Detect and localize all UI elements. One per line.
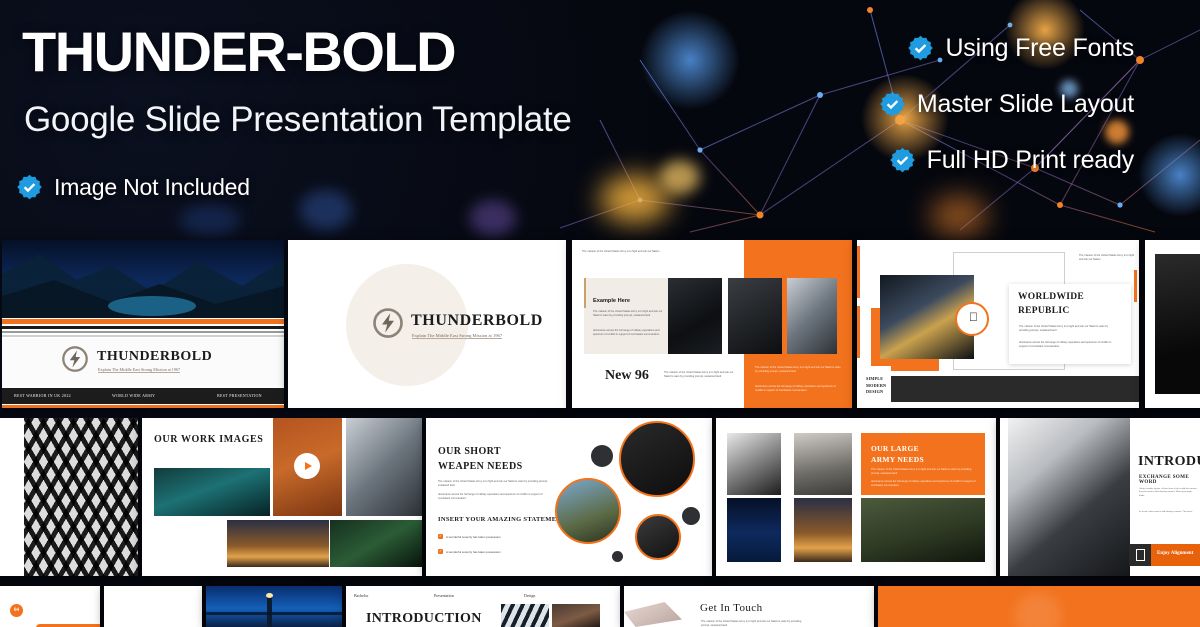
check-badge-icon bbox=[889, 147, 916, 174]
worldwide-left-accent-2 bbox=[857, 306, 860, 358]
worldwide-body-2: dominance across the full range of milit… bbox=[1019, 341, 1119, 349]
example-orange-note-1: The mission of the United States Army is… bbox=[755, 366, 843, 374]
slide-thumbnail-numbered[interactable]: 04 bbox=[0, 586, 100, 627]
lighthouse-photo bbox=[206, 586, 342, 627]
check-badge-icon bbox=[879, 91, 906, 118]
slide-thumbnail-lighthouse[interactable] bbox=[206, 586, 342, 627]
example-body-2: dominance across the full range of milit… bbox=[593, 329, 665, 337]
worldwide-dark-bar bbox=[891, 376, 1139, 402]
worldwide-side-label: SIMPLE MODERN DESIGN bbox=[866, 376, 890, 396]
intro-wide-heading: INTRODUCTION bbox=[366, 611, 482, 627]
page-subtitle: Google Slide Presentation Template bbox=[24, 100, 572, 140]
worldwide-heading-line2: REPUBLIC bbox=[1018, 306, 1070, 316]
play-button[interactable] bbox=[294, 453, 320, 479]
feature-label: Full HD Print ready bbox=[927, 146, 1134, 175]
cover-footer-item: BEST WARRIOR IN UK 2022 bbox=[14, 393, 71, 398]
work-photo-3 bbox=[346, 418, 422, 516]
work-photo-4 bbox=[227, 520, 329, 567]
cover-footer-item: WORLD WIDE ARMY bbox=[112, 393, 155, 398]
army-heading-line1: OUR LARGE bbox=[871, 444, 919, 453]
document-icon bbox=[1136, 549, 1145, 561]
intro-nav-item[interactable]: Design bbox=[524, 593, 535, 598]
slide-thumbnail-introduction[interactable]: INTRODUCTION EXCHANGE SOME WORD Using a … bbox=[1000, 418, 1200, 576]
weapon-body-2: dominance across the full range of milit… bbox=[438, 493, 548, 501]
weapon-bullet-1: ✓ A wonderful serenity has taken possess… bbox=[438, 549, 501, 554]
preview-stage: THUNDER-BOLD Google Slide Presentation T… bbox=[0, 0, 1200, 627]
example-big-number: New 96 bbox=[605, 368, 649, 384]
portrait-photo bbox=[1155, 254, 1200, 394]
army-photo-3 bbox=[727, 498, 781, 562]
worldwide-left-accent-1 bbox=[857, 246, 860, 298]
example-photo-1 bbox=[668, 278, 722, 354]
feature-item-2: Full HD Print ready bbox=[889, 146, 1134, 175]
army-photo-5 bbox=[861, 498, 985, 562]
army-photo-2 bbox=[794, 433, 852, 495]
introduction-cta-label: Enjoy Alignment bbox=[1157, 551, 1193, 556]
weapon-photo-circle-2 bbox=[555, 478, 621, 544]
work-photo-5 bbox=[330, 520, 422, 567]
slide-thumbnail-orange[interactable] bbox=[878, 586, 1200, 627]
weapon-dot-3 bbox=[612, 551, 623, 562]
worldwide-top-note: The mission of the United States Army is… bbox=[1079, 254, 1137, 262]
thunderbolt-logo-icon bbox=[62, 346, 88, 372]
logo-brand-name: THUNDERBOLD bbox=[411, 312, 543, 330]
worldwide-orange-block-bottom bbox=[891, 358, 939, 371]
hero-section: THUNDER-BOLD Google Slide Presentation T… bbox=[0, 0, 1200, 236]
intro-nav-item[interactable]: Presentation bbox=[434, 593, 454, 598]
introduction-heading: INTRODUCTION bbox=[1138, 454, 1200, 470]
worldwide-right-accent bbox=[1134, 270, 1137, 302]
check-badge-icon bbox=[16, 174, 43, 201]
slide-thumbnail-example[interactable]: The mission of the United States Army is… bbox=[572, 240, 852, 408]
get-in-touch-body: The mission of the United States Army is… bbox=[701, 620, 805, 627]
image-not-included-label: Image Not Included bbox=[54, 174, 250, 201]
work-images-heading: OUR WORK IMAGES bbox=[154, 434, 263, 445]
check-small-icon: ✓ bbox=[438, 534, 443, 539]
page-title: THUNDER-BOLD bbox=[22, 24, 455, 80]
weapon-heading-line1: OUR SHORT bbox=[438, 446, 501, 457]
feature-item-0: Using Free Fonts bbox=[907, 34, 1134, 63]
intro-wide-photo-1 bbox=[501, 604, 549, 627]
cover-mountain-shape bbox=[2, 240, 284, 318]
cover-brand-name: THUNDERBOLD bbox=[97, 349, 212, 365]
weapon-photo-circle-3 bbox=[635, 514, 681, 560]
cover-grey-rule bbox=[2, 331, 284, 333]
weapon-dot-2 bbox=[682, 507, 700, 525]
weapon-bullet-text: A wonderful serenity has taken possessio… bbox=[446, 535, 501, 539]
weapon-heading-line2: WEAPEN NEEDS bbox=[438, 461, 523, 472]
introduction-subheading: EXCHANGE SOME WORD bbox=[1139, 475, 1200, 485]
hex-pattern-photo bbox=[24, 418, 138, 576]
apple-logo-icon:  bbox=[969, 312, 976, 325]
worldwide-heading-line1: WORLDWIDE bbox=[1018, 292, 1084, 302]
army-heading-line2: ARMY NEEDS bbox=[871, 455, 924, 464]
feature-label: Master Slide Layout bbox=[917, 90, 1134, 119]
weapon-photo-circle-1 bbox=[619, 421, 695, 497]
slide-thumbnail-army-needs[interactable]: OUR LARGE ARMY NEEDS The mission of the … bbox=[716, 418, 996, 576]
army-body-1: The mission of the United States Army is… bbox=[871, 468, 977, 476]
introduction-body-1: Using a simple syntax, all you have to d… bbox=[1139, 488, 1197, 498]
intro-nav-item[interactable]: Bachelor bbox=[354, 593, 368, 598]
worldwide-body-1: The mission of the United States Army is… bbox=[1019, 325, 1119, 333]
army-body-2: dominance across the full range of milit… bbox=[871, 480, 977, 488]
thunderbolt-logo-icon bbox=[373, 308, 403, 338]
cover-dark-rule bbox=[2, 326, 284, 329]
slide-thumbnail-portrait[interactable] bbox=[1145, 240, 1200, 408]
check-small-icon: ✓ bbox=[438, 549, 443, 554]
example-photo-3 bbox=[787, 278, 837, 354]
slide-thumbnail-hex[interactable] bbox=[0, 418, 138, 576]
weapon-body-1: The mission of the United States Army is… bbox=[438, 480, 548, 488]
logo-brand-tagline: Explain The Middle East Strong Mission a… bbox=[412, 333, 502, 339]
slide-thumbnail-get-in-touch[interactable]: Get In Touch The mission of the United S… bbox=[624, 586, 874, 627]
slide-thumbnail-worldwide[interactable]:  WORLDWIDE REPUBLIC The mission of the … bbox=[857, 240, 1139, 408]
feature-label: Using Free Fonts bbox=[945, 34, 1134, 63]
get-in-touch-photo bbox=[624, 602, 682, 627]
cover-footer-item: BEST PRESENTATION bbox=[217, 393, 262, 398]
example-footer-note: The mission of the United States Army is… bbox=[664, 371, 734, 379]
example-photo-2 bbox=[728, 278, 782, 354]
introduction-soldier-photo bbox=[1008, 418, 1130, 576]
army-photo-4 bbox=[794, 498, 852, 562]
introduction-body-2: as usual, nobis want to with dummy conte… bbox=[1139, 511, 1197, 514]
intro-wide-photo-2 bbox=[552, 604, 600, 627]
example-orange-note-2: dominance across the full range of milit… bbox=[755, 385, 843, 393]
example-heading: Example Here bbox=[593, 298, 630, 304]
weapon-statement: INSERT YOUR AMAZING STATEMENT bbox=[438, 516, 566, 523]
slide-thumbnail-blank[interactable] bbox=[104, 586, 202, 627]
orange-slide-bokeh bbox=[1014, 592, 1062, 627]
feature-item-1: Master Slide Layout bbox=[879, 90, 1134, 119]
slide-thumbnail-weapon-needs[interactable]: OUR SHORT WEAPEN NEEDS The mission of th… bbox=[426, 418, 712, 576]
weapon-bullet-text: A wonderful serenity has taken possessio… bbox=[446, 550, 501, 554]
get-in-touch-heading: Get In Touch bbox=[700, 602, 762, 614]
slide-thumbnail-cover[interactable]: THUNDERBOLD Explain The Middle East Stro… bbox=[2, 240, 284, 408]
slide-thumbnail-logo[interactable]: THUNDERBOLD Explain The Middle East Stro… bbox=[288, 240, 566, 408]
lighthouse-lamp bbox=[266, 593, 273, 598]
work-photo-1 bbox=[154, 468, 270, 516]
weapon-bullet-0: ✓ A wonderful serenity has taken possess… bbox=[438, 534, 501, 539]
slide-thumbnail-work-images[interactable]: OUR WORK IMAGES bbox=[142, 418, 422, 576]
cover-light-rule bbox=[2, 335, 284, 337]
cover-brand-tagline: Explain The Middle East Strong Mission a… bbox=[98, 367, 180, 373]
lighthouse-horizon bbox=[206, 612, 342, 615]
weapon-dot-1 bbox=[591, 445, 613, 467]
slide-thumbnail-introduction-wide[interactable]: Bachelor Presentation Design INTRODUCTIO… bbox=[346, 586, 620, 627]
slide-number-badge: 04 bbox=[10, 604, 23, 617]
image-not-included-badge: Image Not Included bbox=[16, 174, 250, 201]
cover-bottom-orange-rule bbox=[2, 405, 284, 408]
example-top-note: The mission of the United States Army is… bbox=[582, 250, 664, 254]
cover-orange-rule bbox=[2, 319, 284, 324]
army-photo-1 bbox=[727, 433, 781, 495]
example-card-accent bbox=[584, 278, 586, 308]
check-badge-icon bbox=[907, 35, 934, 62]
example-body-1: The mission of the United States Army is… bbox=[593, 310, 665, 318]
